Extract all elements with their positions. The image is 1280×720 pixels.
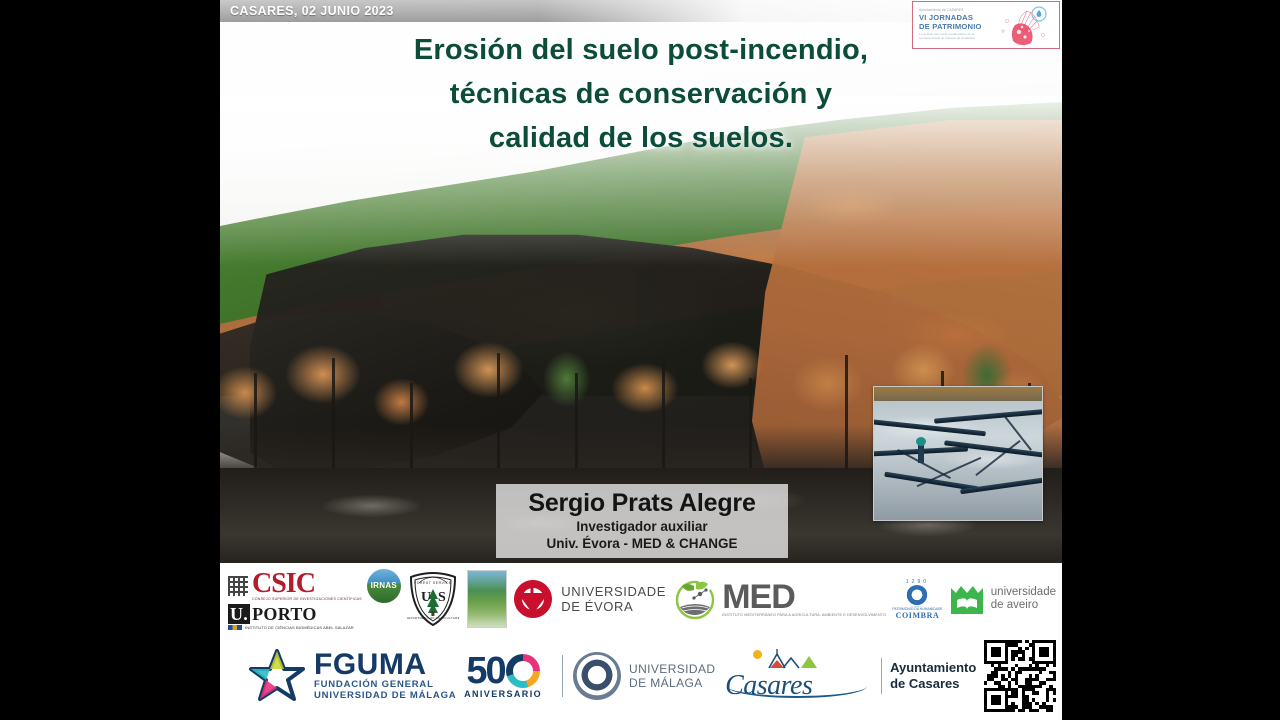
forest-service-top-text: FOREST SERVICE [414,581,452,585]
evora-line2: DE ÉVORA [561,599,666,614]
casares-village-icon [767,648,827,670]
speaker-name-box: Sergio Prats Alegre Investigador auxilia… [496,484,788,558]
logo-u-porto: U.PORTO INSTITUTO DE CIÊNCIAS BIOMÉDICAS… [228,605,401,630]
sponsor-logo-row-2: FGUMA FUNDACIÓN GENERAL UNIVERSIDAD DE M… [220,635,1062,717]
sponsor-logo-band: CSIC CONSEJO SUPERIOR DE INVESTIGACIONES… [220,563,1062,720]
fifty-ring-icon [506,654,540,688]
uma-seal-icon [573,652,621,700]
event-logo-title: VI JORNADAS DE PATRIMONIO [919,14,982,31]
inset-photo-log-erosion-barriers [873,386,1043,521]
logo-universidade-de-coimbra: 1290 PATRIMÓNIO DA HUMANIDADE COIMBRA [892,579,942,620]
fguma-line2: UNIVERSIDAD DE MÁLAGA [314,690,456,701]
aveiro-book-icon [949,582,985,616]
casares-sun-icon [753,650,762,659]
aveiro-text: universidade de aveiro [991,586,1056,612]
title-line-2: técnicas de conservación y [220,72,1062,116]
svg-text:DEPARTMENT OF AGRICULTURE: DEPARTMENT OF AGRICULTURE [407,616,459,620]
coimbra-wordmark: COIMBRA [892,611,942,620]
svg-text:S: S [438,590,446,605]
logo-fguma: FGUMA FUNDACIÓN GENERAL UNIVERSIDAD DE M… [248,648,456,704]
porto-wordmark: U.PORTO [228,605,401,623]
coimbra-kicker: PATRIMÓNIO DA HUMANIDADE [892,607,942,611]
uma-line1: UNIVERSIDAD [629,662,715,676]
porto-u-mark: U. [228,604,250,624]
med-leaf-field-icon [672,577,718,621]
speaker-role: Investigador auxiliar [496,518,788,535]
coimbra-seal-icon [906,585,928,607]
icbas-subtitle-row: INSTITUTO DE CIÊNCIAS BIOMÉDICAS ABEL SA… [228,625,401,630]
fifty-mark: 50 [464,653,542,689]
fifty-label: ANIVERSARIO [464,689,542,699]
logo-uma-group: 50 ANIVERSARIO UNIVERSIDAD DE MÁLAGA [464,652,715,700]
svg-text:U: U [421,590,431,605]
evora-mark-icon [513,579,553,619]
irnas-label: IRNAS [371,581,397,590]
coimbra-year: 1290 [892,579,942,585]
med-wordmark: MED [722,581,886,613]
fguma-wordmark: FGUMA [314,651,456,679]
logo-universidade-de-evora: UNIVERSIDADE DE ÉVORA [513,579,666,619]
sponsor-logo-row-1: CSIC CONSEJO SUPERIOR DE INVESTIGACIONES… [220,567,1062,631]
evora-line1: UNIVERSIDADE [561,584,666,599]
ayuntamiento-text: Ayuntamiento de Casares [890,660,976,692]
speaker-name: Sergio Prats Alegre [496,488,788,518]
logo-usda-forest-service: US U S FOREST SERVICE DEPARTMENT OF AGRI… [407,570,507,628]
logo-universidade-de-aveiro: universidade de aveiro [949,582,1056,616]
aveiro-line2: de aveiro [991,599,1056,612]
logo-50-aniversario: 50 ANIVERSARIO [464,653,542,699]
logo-divider [562,655,563,697]
forest-service-shield-icon: US U S FOREST SERVICE DEPARTMENT OF AGRI… [407,571,459,627]
fguma-line1: FUNDACIÓN GENERAL [314,679,456,690]
porto-word: PORTO [252,604,317,624]
icbas-subtitle: INSTITUTO DE CIÊNCIAS BIOMÉDICAS ABEL SA… [245,625,354,630]
logo-csic: CSIC CONSEJO SUPERIOR DE INVESTIGACIONES… [228,569,401,603]
logo-universidad-de-malaga: UNIVERSIDAD DE MÁLAGA [573,652,715,700]
title-line-3: calidad de los suelos. [220,116,1062,160]
icbas-flag-icon [228,625,242,630]
csic-wordmark: CSIC [252,571,362,597]
uma-line2: DE MÁLAGA [629,676,715,690]
casares-divider [881,658,882,694]
logo-med: MED INSTITUTO MEDITERRÂNEO PARA A AGRICU… [672,577,886,621]
landscape-photo-chip [467,570,507,628]
event-logo-title-line2: DE PATRIMONIO [919,23,982,32]
fifty-number: 50 [466,653,504,689]
med-subtitle: INSTITUTO MEDITERRÂNEO PARA A AGRICULTUR… [722,613,886,618]
csic-subtitle: CONSEJO SUPERIOR DE INVESTIGACIONES CIEN… [252,597,362,601]
logo-ayuntamiento-de-casares: Casares Ayuntamiento de Casares [723,648,976,704]
jornadas-decorative-icon [993,5,1055,47]
ayuntamiento-line1: Ayuntamiento [890,660,976,676]
speaker-affiliation: Univ. Évora - MED & CHANGE [496,535,788,552]
csic-qr-icon [228,576,248,596]
event-logo-jornadas: Ayuntamiento de CASARES VI JORNADAS DE P… [912,1,1060,49]
evora-text: UNIVERSIDADE DE ÉVORA [561,584,666,614]
casares-mark: Casares [723,648,873,704]
video-player-stage: CASARES, 02 JUNIO 2023 Ayuntamiento de C… [0,0,1280,720]
aveiro-line1: universidade [991,586,1056,599]
presentation-slide: CASARES, 02 JUNIO 2023 Ayuntamiento de C… [220,0,1062,720]
ayuntamiento-line2: de Casares [890,676,976,692]
qr-code[interactable] [984,640,1056,712]
event-logo-kicker: Ayuntamiento de CASARES [919,8,964,12]
irnas-badge-icon: IRNAS [367,569,401,603]
logo-csic-porto-group: CSIC CONSEJO SUPERIOR DE INVESTIGACIONES… [228,569,401,630]
event-logo-subtitle: La gestión del monte mediterráneo en la … [919,33,985,41]
uma-text: UNIVERSIDAD DE MÁLAGA [629,662,715,690]
fguma-star-icon [248,648,306,704]
